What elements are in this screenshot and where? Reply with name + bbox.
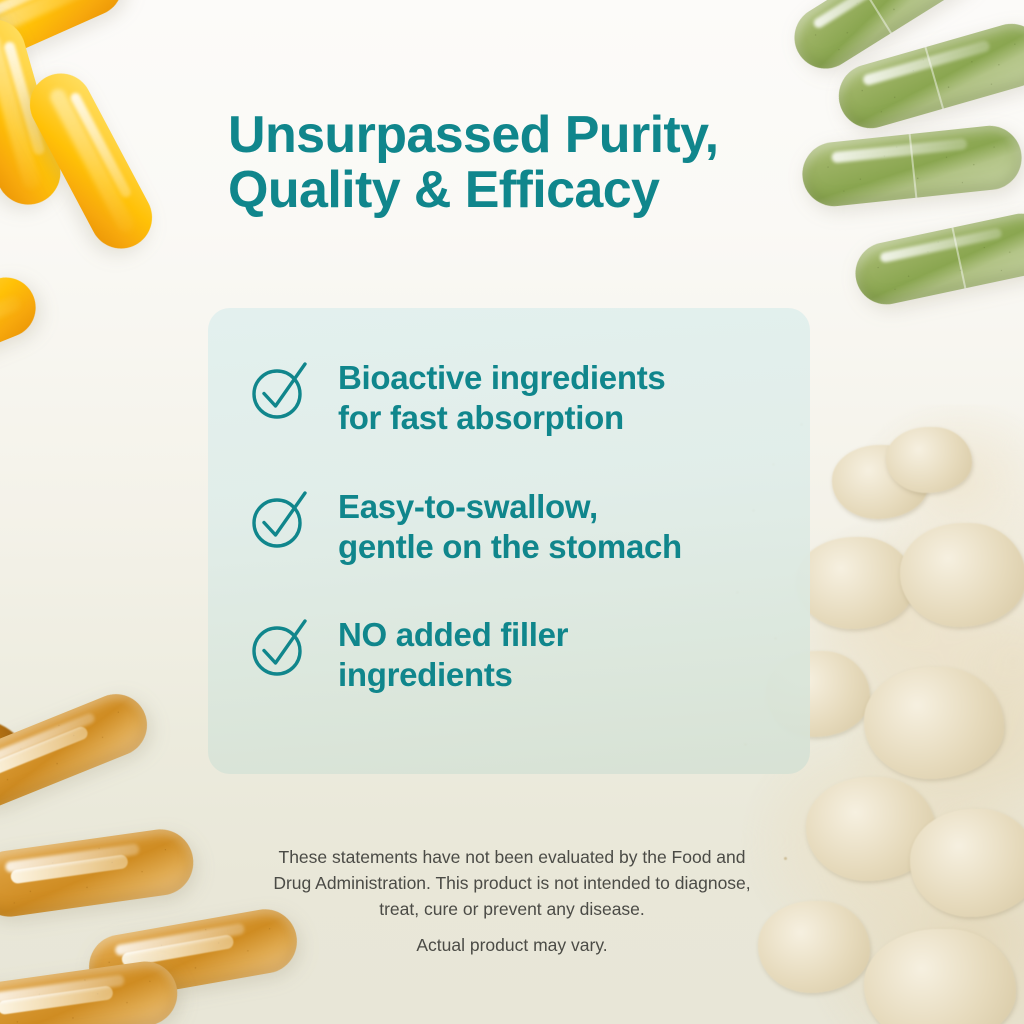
list-item: NO added filler ingredients bbox=[248, 613, 782, 696]
benefits-card: Bioactive ingredients for fast absorptio… bbox=[208, 308, 810, 774]
check-circle-icon bbox=[248, 487, 312, 551]
fda-disclaimer: These statements have not been evaluated… bbox=[224, 845, 800, 923]
green-capsule bbox=[831, 16, 1024, 135]
softgel-capsule bbox=[0, 268, 45, 391]
softgel-capsule bbox=[19, 63, 163, 260]
softgel-capsule bbox=[0, 0, 132, 78]
page-title: Unsurpassed Purity, Quality & Efficacy bbox=[228, 108, 848, 218]
check-circle-icon bbox=[248, 358, 312, 422]
list-item: Easy-to-swallow, gentle on the stomach bbox=[248, 485, 782, 568]
softgel-capsule bbox=[0, 0, 7, 107]
decor-yellow-softgels-top-left bbox=[0, 0, 230, 410]
benefit-label: NO added filler ingredients bbox=[338, 613, 568, 696]
turmeric-capsule bbox=[0, 957, 181, 1024]
decor-turmeric-capsules-bottom-left bbox=[0, 700, 240, 1024]
benefit-label: Easy-to-swallow, gentle on the stomach bbox=[338, 485, 682, 568]
list-item: Bioactive ingredients for fast absorptio… bbox=[248, 356, 782, 439]
headline-line-2: Quality & Efficacy bbox=[228, 163, 848, 218]
green-capsule bbox=[783, 0, 985, 80]
headline-line-1: Unsurpassed Purity, bbox=[228, 106, 718, 164]
benefits-list: Bioactive ingredients for fast absorptio… bbox=[248, 356, 782, 696]
turmeric-capsule bbox=[0, 825, 198, 921]
product-vary-note: Actual product may vary. bbox=[416, 933, 607, 959]
check-circle-icon bbox=[248, 615, 312, 679]
promo-graphic: Unsurpassed Purity, Quality & Efficacy B… bbox=[0, 0, 1024, 1024]
turmeric-capsule bbox=[0, 685, 156, 817]
green-capsule bbox=[850, 208, 1024, 310]
softgel-capsule bbox=[0, 12, 68, 212]
benefit-label: Bioactive ingredients for fast absorptio… bbox=[338, 356, 665, 439]
